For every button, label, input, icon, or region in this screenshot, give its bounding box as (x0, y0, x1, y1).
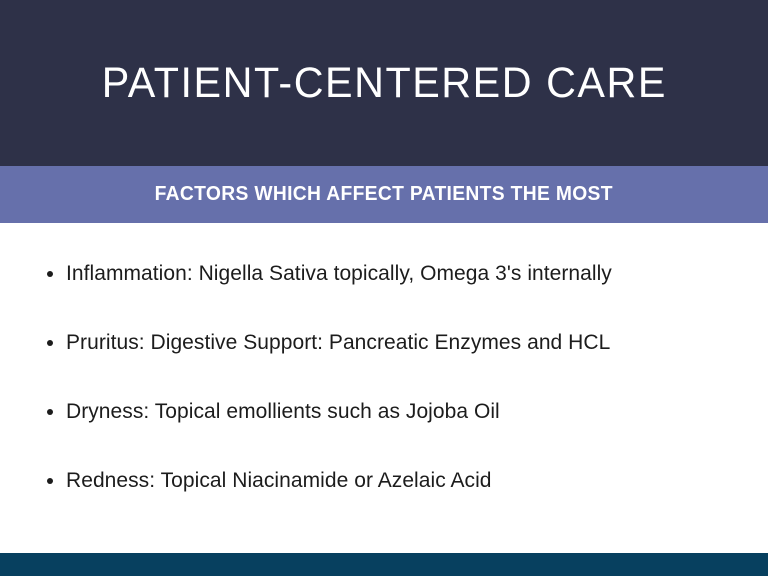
slide-subtitle: FACTORS WHICH AFFECT PATIENTS THE MOST (155, 184, 613, 205)
bullet-dot-icon (47, 340, 53, 346)
bullet-dot-icon (47, 409, 53, 415)
bullet-dot-icon (47, 271, 53, 277)
list-item: Inflammation: Nigella Sativa topically, … (0, 263, 768, 285)
list-item: Pruritus: Digestive Support: Pancreatic … (0, 332, 768, 354)
slide-footer-bar (0, 553, 768, 576)
slide-body: Inflammation: Nigella Sativa topically, … (0, 223, 768, 553)
slide-header-band: PATIENT-CENTERED CARE (0, 0, 768, 166)
bullet-list: Inflammation: Nigella Sativa topically, … (0, 263, 768, 492)
slide-canvas: PATIENT-CENTERED CARE FACTORS WHICH AFFE… (0, 0, 768, 576)
list-item-label: Redness: Topical Niacinamide or Azelaic … (66, 470, 492, 492)
list-item: Dryness: Topical emollients such as Jojo… (0, 401, 768, 423)
list-item-label: Dryness: Topical emollients such as Jojo… (66, 401, 500, 423)
bullet-dot-icon (47, 478, 53, 484)
list-item-label: Pruritus: Digestive Support: Pancreatic … (66, 332, 610, 354)
list-item: Redness: Topical Niacinamide or Azelaic … (0, 470, 768, 492)
page-title: PATIENT-CENTERED CARE (101, 62, 666, 105)
slide-subtitle-band: FACTORS WHICH AFFECT PATIENTS THE MOST (0, 166, 768, 223)
list-item-label: Inflammation: Nigella Sativa topically, … (66, 263, 612, 285)
